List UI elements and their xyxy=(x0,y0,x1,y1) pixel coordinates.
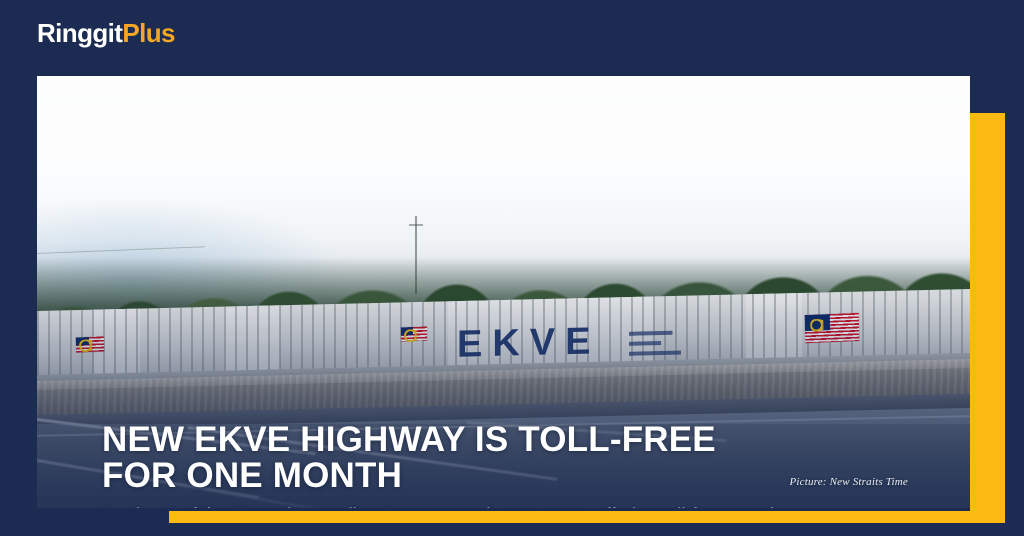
ringgitplus-logo[interactable]: RinggitPlus xyxy=(37,18,175,48)
hero-photo: EKVE NEW EKVE HIGHWAY IS TOLL-FREE FOR O… xyxy=(37,76,970,508)
news-banner-card: RinggitPlus EKVE xyxy=(0,0,1024,536)
headline: NEW EKVE HIGHWAY IS TOLL-FREE FOR ONE MO… xyxy=(102,422,902,494)
accent-bar-bottom xyxy=(169,511,1005,523)
logo-text-plus: Plus xyxy=(122,18,175,48)
logo-text-ringgit: Ringgit xyxy=(37,18,122,48)
subheadline: Section 1 of the East Klang Valley Expre… xyxy=(99,502,889,508)
photo-credit: Picture: New Straits Time xyxy=(789,476,908,488)
accent-bar-right xyxy=(970,113,1005,523)
